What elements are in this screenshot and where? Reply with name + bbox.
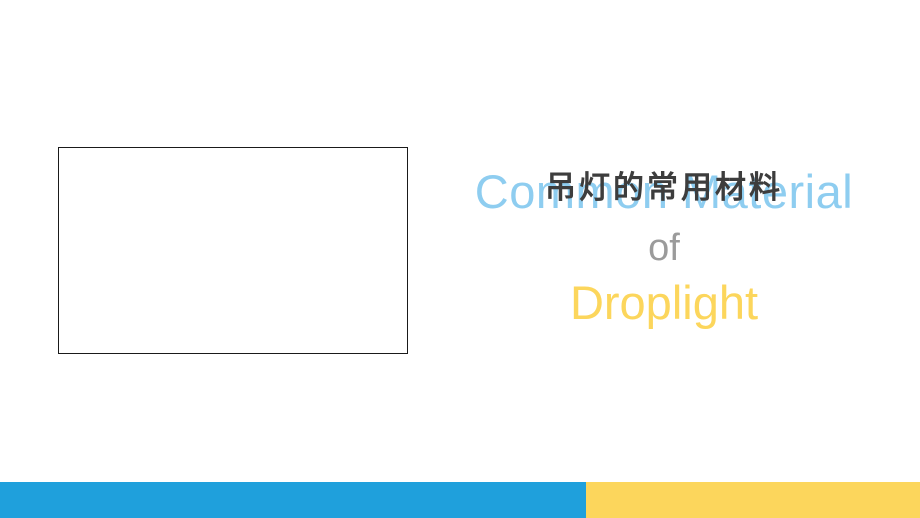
- bottom-bar-blue-segment: [0, 482, 586, 518]
- bottom-decoration-bar: [0, 482, 920, 518]
- title-line-of: of: [408, 229, 920, 267]
- image-placeholder[interactable]: [58, 147, 408, 354]
- bottom-bar-yellow-segment: [586, 482, 920, 518]
- title-line-droplight: Droplight: [408, 279, 920, 326]
- chinese-title: 吊灯的常用材料: [408, 162, 920, 207]
- slide-canvas: Common Material of Droplight 吊灯的常用材料: [0, 0, 920, 518]
